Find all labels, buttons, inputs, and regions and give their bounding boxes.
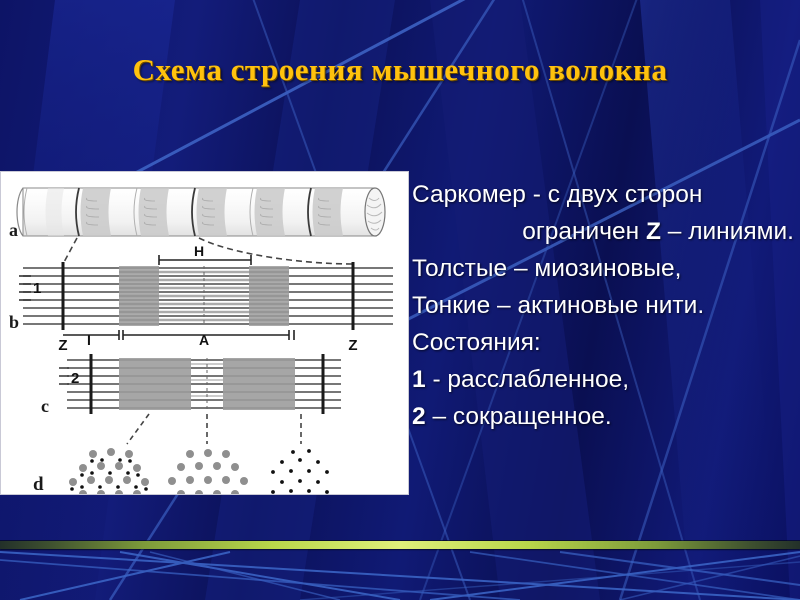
accent-bar <box>0 541 800 549</box>
body-line-2: ограничен Z – линиями. <box>412 213 798 250</box>
body-line-6-rest: - расслабленное, <box>426 366 629 393</box>
cross-section-i-band <box>271 449 329 494</box>
diagram-marker-1: 1 <box>33 280 41 297</box>
diagram-caption-d: d <box>33 474 44 494</box>
body-line-2-prefix: ограничен <box>522 218 646 245</box>
panel-d-cross-sections: d <box>33 448 329 494</box>
body-line-7-rest: – сокращенное. <box>426 403 612 430</box>
diagram-z-left-label: Z <box>58 337 67 354</box>
diagram-caption-c: c <box>41 396 49 416</box>
diagram-caption-b: b <box>9 312 19 332</box>
body-line-6: 1 - расслабленное, <box>412 361 798 398</box>
slide-canvas: Схема строения мышечного волокна <box>0 0 800 600</box>
diagram-z-right-label: Z <box>348 337 357 354</box>
body-line-2-bold: Z <box>646 218 661 245</box>
body-line-3: Толстые – миозиновые, <box>412 250 798 287</box>
diagram-zone-h: H <box>194 243 204 259</box>
slide-title: Схема строения мышечного волокна <box>0 52 800 88</box>
diagram-caption-a: a <box>9 220 18 240</box>
diagram-band-i: I <box>87 332 91 348</box>
slide-body-text: Саркомер - с двух сторон ограничен Z – л… <box>412 176 798 435</box>
body-line-4: Тонкие – актиновые нити. <box>412 287 798 324</box>
body-line-6-bold: 1 <box>412 366 426 393</box>
leader-lines-c-to-d <box>127 414 301 444</box>
body-line-1: Саркомер - с двух сторон <box>412 176 798 213</box>
panel-c-contracted-sarcomere: 2 c <box>41 354 341 416</box>
diagram-marker-2: 2 <box>71 370 79 387</box>
cross-section-overlap <box>69 448 149 494</box>
muscle-fiber-diagram: a <box>1 172 408 494</box>
diagram-band-a: A <box>199 332 209 348</box>
body-line-2-suffix: – линиями. <box>661 218 794 245</box>
panel-b-relaxed-sarcomere: 1 H I A Z <box>9 243 393 354</box>
cross-section-h-zone <box>168 449 248 494</box>
panel-a-myofibril: a <box>9 188 385 240</box>
body-line-7: 2 – сокращенное. <box>412 398 798 435</box>
body-line-7-bold: 2 <box>412 403 426 430</box>
body-line-5: Состояния: <box>412 324 798 361</box>
